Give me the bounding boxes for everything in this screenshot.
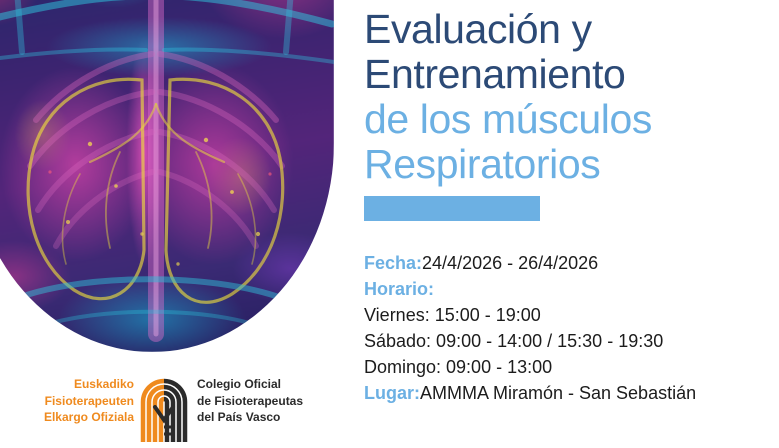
detail-label-lugar: Lugar:: [364, 383, 420, 403]
detail-value-viernes: Viernes: 15:00 - 19:00: [364, 305, 541, 325]
detail-value-domingo: Domingo: 09:00 - 13:00: [364, 357, 552, 377]
logo-text-spanish: Colegio Oficial de Fisioterapeutas del P…: [197, 376, 317, 426]
detail-label-horario: Horario:: [364, 279, 434, 299]
logo-basque-line-3: Elkargo Ofiziala: [22, 409, 134, 426]
detail-label-fecha: Fecha:: [364, 253, 422, 273]
hero-image-vein-overlay: [0, 0, 334, 352]
detail-value-lugar: AMMMA Miramón - San Sebastián: [420, 383, 696, 403]
title-line-3: de los músculos: [364, 97, 776, 142]
title-line-1: Evaluación y: [364, 7, 776, 52]
detail-row-viernes: Viernes: 15:00 - 19:00: [364, 302, 774, 328]
logo-basque-line-2: Fisioterapeuten: [22, 393, 134, 410]
detail-row-horario: Horario:: [364, 276, 774, 302]
detail-value-fecha: 24/4/2026 - 26/4/2026: [422, 253, 598, 273]
organization-logo: Euskadiko Fisioterapeuten Elkargo Ofizia…: [22, 371, 312, 445]
title-line-4: Respiratorios: [364, 142, 776, 187]
detail-row-lugar: Lugar:AMMMA Miramón - San Sebastián: [364, 380, 774, 406]
logo-spanish-line-2: de Fisioterapeutas: [197, 393, 317, 410]
logo-spanish-line-3: del País Vasco: [197, 409, 317, 426]
poster-title: Evaluación y Entrenamiento de los múscul…: [364, 7, 776, 187]
detail-row-fecha: Fecha:24/4/2026 - 26/4/2026: [364, 250, 774, 276]
accent-bar: [364, 196, 540, 221]
hero-image: [0, 0, 334, 352]
event-details: Fecha:24/4/2026 - 26/4/2026 Horario: Vie…: [364, 250, 774, 406]
title-line-2: Entrenamiento: [364, 52, 776, 97]
cofpv-emblem-icon: [135, 371, 193, 445]
detail-row-domingo: Domingo: 09:00 - 13:00: [364, 354, 774, 380]
detail-row-sabado: Sábado: 09:00 - 14:00 / 15:30 - 19:30: [364, 328, 774, 354]
poster-canvas: Evaluación y Entrenamiento de los múscul…: [0, 0, 779, 448]
detail-value-sabado: Sábado: 09:00 - 14:00 / 15:30 - 19:30: [364, 331, 663, 351]
logo-spanish-line-1: Colegio Oficial: [197, 376, 317, 393]
logo-basque-line-1: Euskadiko: [22, 376, 134, 393]
logo-text-basque: Euskadiko Fisioterapeuten Elkargo Ofizia…: [22, 376, 134, 426]
